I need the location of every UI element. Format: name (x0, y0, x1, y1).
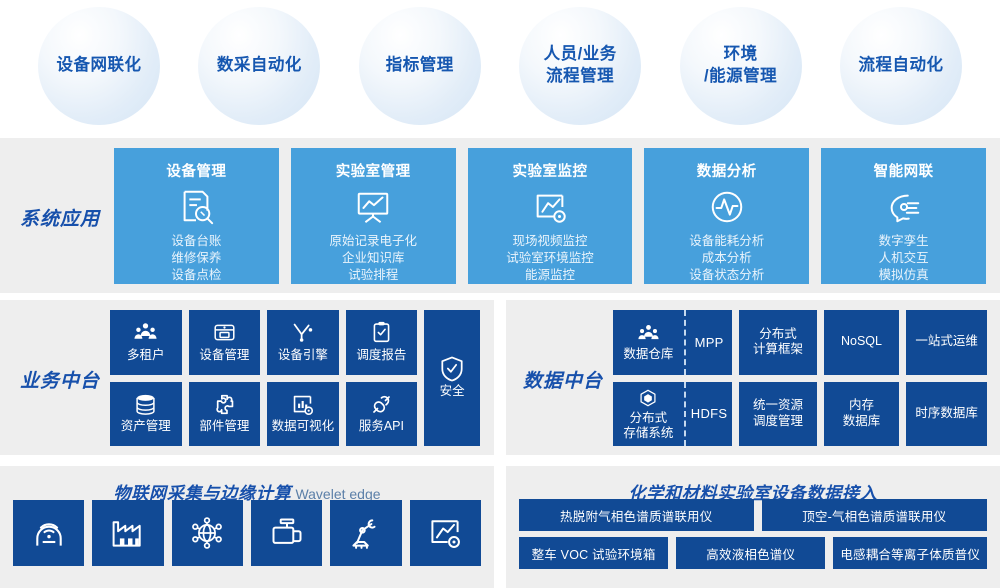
iot-icon-row (13, 500, 481, 566)
capability-label: 指标管理 (386, 55, 454, 77)
system-application-card-row: 设备管理 设备台账 维修保养 设备点检 实验室管理 (114, 148, 986, 284)
capability-ellipse-2[interactable]: 数采自动化 (198, 7, 320, 125)
data-tile-label: 时序数据库 (915, 406, 978, 422)
capability-ellipse-6[interactable]: 流程自动化 (840, 7, 962, 125)
data-tile-distributed-storage[interactable]: 分布式 存储系统 (613, 382, 686, 447)
sysapp-card-title: 数据分析 (697, 160, 757, 181)
capability-label: 设备网联化 (57, 55, 142, 77)
document-wrench-icon (177, 188, 215, 227)
lab-chip-grid: 热脱附气相色谱质谱联用仪 顶空-气相色谱质谱联用仪 整车 VOC 试验环境箱 高… (519, 499, 987, 569)
system-application-title: 系统应用 (20, 204, 100, 231)
data-tile-hdfs-label[interactable]: HDFS (686, 382, 732, 447)
iot-tile-network-globe[interactable] (172, 500, 243, 566)
iot-tile-chart-monitor[interactable] (410, 500, 481, 566)
biz-tile-multi-tenant[interactable]: 多租户 (110, 310, 182, 375)
sysapp-card-device-management[interactable]: 设备管理 设备台账 维修保养 设备点检 (114, 148, 279, 284)
capability-ellipse-1[interactable]: 设备网联化 (38, 7, 160, 125)
lab-chip-icpms[interactable]: 电感耦合等离子体质普仪 (833, 537, 987, 569)
sysapp-card-lines: 设备台账 维修保养 设备点检 (171, 233, 221, 284)
network-globe-icon (189, 515, 225, 551)
lab-chip-row-1: 热脱附气相色谱质谱联用仪 顶空-气相色谱质谱联用仪 (519, 499, 987, 531)
lab-chip-voc-chamber[interactable]: 整车 VOC 试验环境箱 (519, 537, 668, 569)
data-tile-mpp-label[interactable]: MPP (686, 310, 732, 375)
shield-check-icon (440, 357, 464, 381)
biz-tile-label: 设备管理 (199, 348, 249, 364)
data-platform-grid: 数据仓库 MPP 分布式 计算框架 NoSQL 一站式运维 分布式 存储系统 (613, 310, 987, 446)
lab-chip-td-gcms[interactable]: 热脱附气相色谱质谱联用仪 (519, 499, 754, 531)
biz-tile-label: 服务API (359, 419, 404, 435)
data-tile-warehouse-mpp[interactable]: 数据仓库 MPP (613, 310, 732, 375)
presentation-chart-icon (354, 188, 392, 227)
data-tile-label: 统一资源 调度管理 (753, 398, 803, 429)
data-tile-label: 分布式 存储系统 (623, 411, 673, 442)
biz-tile-security[interactable]: 安全 (424, 310, 480, 446)
biz-tile-label: 调度报告 (356, 348, 406, 364)
users-group-icon (134, 321, 157, 345)
biz-tile-device-engine[interactable]: 设备引擎 (267, 310, 339, 375)
biz-tile-asset-management[interactable]: 资产管理 (110, 382, 182, 447)
data-tile-one-stop-ops[interactable]: 一站式运维 (906, 310, 987, 375)
sysapp-card-title: 设备管理 (166, 160, 226, 181)
capability-label: 数采自动化 (217, 55, 302, 77)
lab-chip-row-2: 整车 VOC 试验环境箱 高效液相色谱仪 电感耦合等离子体质普仪 (519, 537, 987, 569)
capability-ellipse-row: 设备网联化 数采自动化 指标管理 人员/业务 流程管理 环境 /能源管理 流程自… (0, 0, 1000, 132)
bar-chart-panel-icon (291, 392, 314, 416)
sysapp-card-lines: 设备能耗分析 成本分析 设备状态分析 (689, 233, 764, 284)
node-graph-icon (291, 321, 314, 345)
capability-label: 环境 /能源管理 (704, 44, 777, 88)
lab-chip-hplc[interactable]: 高效液相色谱仪 (676, 537, 825, 569)
capability-label: 人员/业务 流程管理 (544, 44, 617, 88)
data-tile-timeseries-db[interactable]: 时序数据库 (906, 382, 987, 447)
business-platform-grid: 多租户 设备管理 设备引擎 (110, 310, 480, 446)
sysapp-card-intelligent-network[interactable]: 智能网联 数字孪生 人机交互 模拟仿真 (821, 148, 986, 284)
biz-tile-service-api[interactable]: 服务API (346, 382, 418, 447)
data-tile-label: 一站式运维 (915, 334, 978, 350)
architecture-diagram: 设备网联化 数采自动化 指标管理 人员/业务 流程管理 环境 /能源管理 流程自… (0, 0, 1000, 588)
data-tile-in-memory-db[interactable]: 内存 数据库 (824, 382, 900, 447)
business-platform-title: 业务中台 (20, 366, 100, 393)
cluster-node-icon (638, 387, 658, 409)
lab-chip-hs-gcms[interactable]: 顶空-气相色谱质谱联用仪 (762, 499, 987, 531)
data-tile-resource-scheduling[interactable]: 统一资源 调度管理 (739, 382, 816, 447)
capability-ellipse-4[interactable]: 人员/业务 流程管理 (519, 7, 641, 125)
biz-tile-label: 安全 (440, 384, 465, 400)
sysapp-card-lab-management[interactable]: 实验室管理 原始记录电子化 企业知识库 试验排程 (291, 148, 456, 284)
chart-monitor-icon (427, 515, 463, 551)
monitor-chart-icon (531, 188, 569, 227)
biz-tile-data-visualization[interactable]: 数据可视化 (267, 382, 339, 447)
sysapp-card-title: 智能网联 (874, 160, 934, 181)
device-box-icon (213, 321, 236, 345)
capability-ellipse-3[interactable]: 指标管理 (359, 7, 481, 125)
ai-head-icon (885, 188, 923, 227)
sysapp-card-data-analysis[interactable]: 数据分析 设备能耗分析 成本分析 设备状态分析 (644, 148, 809, 284)
users-group-icon (638, 323, 659, 345)
iot-tile-valve-pipe[interactable] (251, 500, 322, 566)
data-tile-storage-hdfs[interactable]: 分布式 存储系统 HDFS (613, 382, 732, 447)
data-tile-label: NoSQL (841, 334, 882, 350)
biz-tile-label: 部件管理 (199, 419, 249, 435)
biz-tile-label: 设备引擎 (278, 348, 328, 364)
biz-tile-label: 数据可视化 (272, 419, 335, 435)
data-tile-warehouse[interactable]: 数据仓库 (613, 310, 686, 375)
iot-tile-wifi-gateway[interactable] (13, 500, 84, 566)
valve-pipe-icon (269, 515, 305, 551)
factory-icon (110, 515, 146, 551)
sysapp-card-title: 实验室监控 (512, 160, 587, 181)
biz-tile-dispatch-report[interactable]: 调度报告 (346, 310, 418, 375)
sysapp-card-lines: 原始记录电子化 企业知识库 试验排程 (329, 233, 417, 284)
sysapp-card-lab-monitoring[interactable]: 实验室监控 现场视频监控 试验室环境监控 能源监控 (468, 148, 633, 284)
clipboard-check-icon (370, 321, 393, 345)
sysapp-card-lines: 现场视频监控 试验室环境监控 能源监控 (506, 233, 594, 284)
iot-tile-factory[interactable] (92, 500, 163, 566)
biz-tile-component-management[interactable]: 部件管理 (189, 382, 261, 447)
puzzle-piece-icon (213, 392, 236, 416)
database-stack-icon (134, 392, 157, 416)
data-tile-label: 分布式 计算框架 (753, 327, 803, 358)
data-tile-distributed-compute[interactable]: 分布式 计算框架 (739, 310, 816, 375)
data-platform-title: 数据中台 (523, 366, 603, 393)
capability-label: 流程自动化 (858, 55, 943, 77)
sysapp-card-lines: 数字孪生 人机交互 模拟仿真 (879, 233, 929, 284)
data-tile-nosql[interactable]: NoSQL (824, 310, 900, 375)
biz-tile-label: 资产管理 (121, 419, 171, 435)
pulse-circle-icon (708, 188, 746, 227)
data-tile-label: 内存 数据库 (843, 398, 881, 429)
capability-ellipse-5[interactable]: 环境 /能源管理 (680, 7, 802, 125)
iot-tile-robot-arm[interactable] (330, 500, 401, 566)
sysapp-card-title: 实验室管理 (336, 160, 411, 181)
biz-tile-device-management[interactable]: 设备管理 (189, 310, 261, 375)
data-tile-label: 数据仓库 (623, 347, 673, 362)
wifi-gateway-icon (31, 515, 67, 551)
plug-connect-icon (370, 392, 393, 416)
biz-tile-label: 多租户 (127, 348, 165, 364)
robot-arm-icon (348, 515, 384, 551)
